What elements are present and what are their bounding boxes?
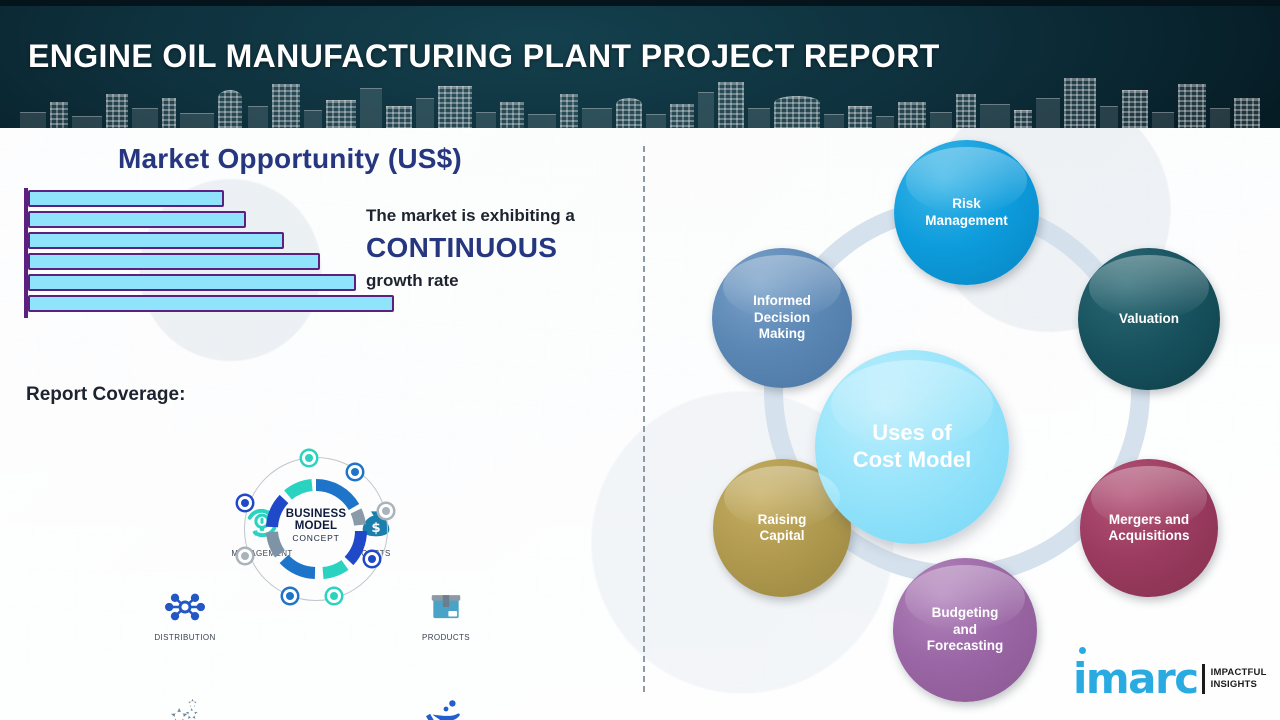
wheel-node-bottom <box>327 589 341 603</box>
bubble-label: Valuation <box>1113 311 1185 327</box>
imarc-tagline: IMPACTFUL INSIGHTS <box>1211 667 1267 691</box>
chart-bar <box>28 274 356 291</box>
bubble-risk-management[interactable]: Risk Management <box>894 140 1039 285</box>
business-model-wheel: BUSINESS MODEL CONCEPT <box>243 456 389 602</box>
growth-line-3: growth rate <box>366 271 636 291</box>
coverage-caption: DISTRIBUTION <box>137 633 233 642</box>
growth-statement: The market is exhibiting a CONTINUOUS gr… <box>366 206 636 291</box>
chart-bar <box>28 295 394 312</box>
wheel-node-top-right <box>348 465 362 479</box>
coverage-item-products: PRODUCTS <box>398 584 494 642</box>
bubble-budgeting-and-forecasting[interactable]: Budgeting and Forecasting <box>893 558 1037 702</box>
distribution-icon <box>137 584 233 630</box>
market-opportunity-bar-chart <box>24 188 424 318</box>
report-coverage-label: Report Coverage: <box>26 384 185 406</box>
bubble-mergers-and-acquisitions[interactable]: Mergers and Acquisitions <box>1080 459 1218 597</box>
bubble-center-label: Uses of Cost Model <box>847 420 978 474</box>
bubble-label: Mergers and Acquisitions <box>1102 512 1195 545</box>
wheel-node-bottom-right <box>365 552 379 566</box>
wheel-node-upper-left <box>238 496 252 510</box>
bubble-label: Risk Management <box>919 196 1014 229</box>
bubble-label: Informed Decision Making <box>747 293 817 342</box>
bubble-uses-of-cost-model: Uses of Cost Model <box>815 350 1009 544</box>
market-opportunity-title: Market Opportunity (US$) <box>118 143 462 175</box>
coverage-item-distribution: DISTRIBUTION <box>137 584 233 642</box>
growth-line-1: The market is exhibiting a <box>366 206 636 226</box>
coverage-caption: PRODUCTS <box>398 633 494 642</box>
imarc-wordmark: imarc <box>1073 658 1198 700</box>
coverage-item-revenue: REVENUE <box>398 690 494 720</box>
uses-of-cost-model-diagram: Informed Decision Making Risk Management… <box>643 128 1280 720</box>
coverage-item-services: SERVICES <box>137 690 233 720</box>
growth-line-2: CONTINUOUS <box>366 232 636 264</box>
wheel-line-2: MODEL <box>243 520 389 532</box>
header-top-rule <box>0 0 1280 6</box>
page-title: ENGINE OIL MANUFACTURING PLANT PROJECT R… <box>28 38 940 75</box>
slide-header: ENGINE OIL MANUFACTURING PLANT PROJECT R… <box>0 0 1280 128</box>
bubble-valuation[interactable]: Valuation <box>1078 248 1220 390</box>
wheel-line-1: BUSINESS <box>243 508 389 520</box>
wheel-node-right <box>379 504 393 518</box>
left-panel: Market Opportunity (US$) The market is e… <box>0 128 643 720</box>
city-skyline-graphic <box>0 66 1280 128</box>
revenue-icon <box>398 690 494 720</box>
wheel-node-left <box>238 549 252 563</box>
chart-bar <box>28 253 320 270</box>
chart-bar <box>28 232 284 249</box>
wheel-hub-label: BUSINESS MODEL CONCEPT <box>243 508 389 543</box>
services-icon <box>137 690 233 720</box>
imarc-logo-divider <box>1202 664 1205 694</box>
bubble-informed-decision-making[interactable]: Informed Decision Making <box>712 248 852 388</box>
bubble-label: Raising Capital <box>752 512 813 545</box>
wheel-node-top-left <box>302 451 316 465</box>
imarc-tagline-line-2: INSIGHTS <box>1211 679 1267 691</box>
chart-bar <box>28 211 246 228</box>
bubble-label: Budgeting and Forecasting <box>921 605 1010 654</box>
slide: ENGINE OIL MANUFACTURING PLANT PROJECT R… <box>0 0 1280 720</box>
imarc-tagline-line-1: IMPACTFUL <box>1211 667 1267 679</box>
products-icon <box>398 584 494 630</box>
imarc-logo-dot <box>1079 647 1086 654</box>
imarc-logo[interactable]: imarc IMPACTFUL INSIGHTS <box>1073 656 1267 702</box>
chart-bar <box>28 190 224 207</box>
wheel-node-bottom-left <box>283 589 297 603</box>
wheel-line-3: CONCEPT <box>243 533 389 543</box>
